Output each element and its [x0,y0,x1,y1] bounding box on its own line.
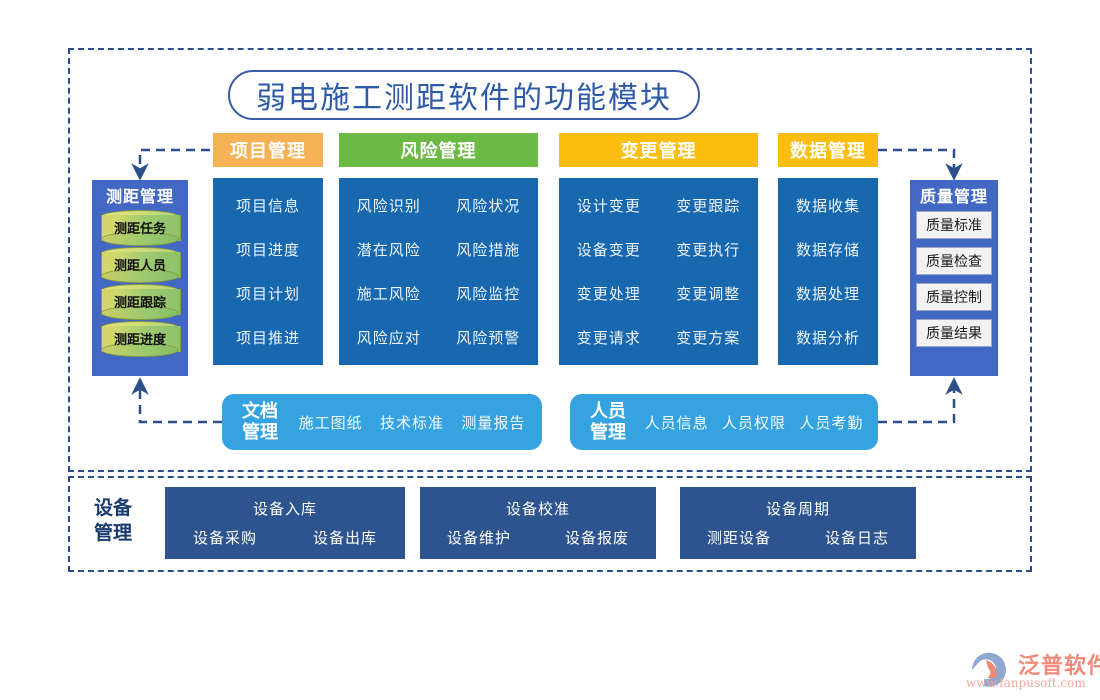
document-item[interactable]: 技术标准 [380,412,444,433]
personnel-item[interactable]: 人员权限 [722,412,786,433]
equipment-management-label: 设备 管理 [78,496,148,546]
personnel-management-title: 人员 管理 [586,401,630,443]
panel-cell[interactable]: 项目进度 [236,239,300,260]
category-header-data[interactable]: 数据管理 [778,133,878,167]
panel-row: 风险识别 风险状况 [339,184,538,228]
equipment-group-heading[interactable]: 设备校准 [420,498,656,519]
panel-cell[interactable]: 设备变更 [577,239,641,260]
category-header-project[interactable]: 项目管理 [213,133,323,167]
panel-cell[interactable]: 设计变更 [577,195,641,216]
personnel-items: 人员信息 人员权限 人员考勤 [630,412,878,433]
equipment-group-items: 设备采购 设备出库 [165,527,405,548]
panel-cell[interactable]: 风险识别 [357,195,421,216]
cylinder-item[interactable]: 测距进度 [101,321,179,355]
cylinder-item[interactable]: 测距跟踪 [101,284,179,318]
category-header-label: 风险管理 [401,137,477,163]
equipment-item[interactable]: 设备日志 [825,527,889,548]
panel-row: 项目信息 [213,184,323,228]
equipment-group-calibration: 设备校准 设备维护 设备报废 [420,487,656,559]
panel-cell[interactable]: 风险预警 [456,327,520,348]
panel-cell[interactable]: 施工风险 [357,283,421,304]
equipment-item[interactable]: 设备出库 [313,527,377,548]
panel-row: 变更处理 变更调整 [559,272,758,316]
panel-row: 数据存储 [778,228,878,272]
panel-cell[interactable]: 潜在风险 [357,239,421,260]
category-header-change[interactable]: 变更管理 [559,133,758,167]
panel-row: 设备变更 变更执行 [559,228,758,272]
panel-cell[interactable]: 数据收集 [796,195,860,216]
quality-chip[interactable]: 质量结果 [916,319,992,347]
diagram-title: 弱电施工测距软件的功能模块 [256,73,672,117]
document-items: 施工图纸 技术标准 测量报告 [282,412,542,433]
panel-cell[interactable]: 风险监控 [456,283,520,304]
panel-cell[interactable]: 项目信息 [236,195,300,216]
personnel-title-line2: 管理 [586,422,630,443]
equipment-item[interactable]: 设备维护 [447,527,511,548]
panel-cell[interactable]: 变更请求 [577,327,641,348]
quality-chip[interactable]: 质量标准 [916,211,992,239]
equipment-item[interactable]: 设备采购 [193,527,257,548]
doc-title-line2: 管理 [238,422,282,443]
category-header-label: 数据管理 [790,137,866,163]
panel-row: 项目推进 [213,315,323,359]
panel-row: 数据处理 [778,272,878,316]
category-panel-change: 设计变更 变更跟踪 设备变更 变更执行 变更处理 变更调整 变更请求 变更方案 [559,178,758,365]
equipment-item[interactable]: 设备报废 [565,527,629,548]
ranging-management-title: 测距管理 [106,183,174,207]
panel-cell[interactable]: 数据存储 [796,239,860,260]
document-management-bar: 文档 管理 施工图纸 技术标准 测量报告 [222,394,542,450]
equipment-label-line2: 管理 [78,521,148,546]
panel-cell[interactable]: 项目推进 [236,327,300,348]
logo-url-text: www.fanpusoft.com [966,676,1086,690]
category-panel-data: 数据收集 数据存储 数据处理 数据分析 [778,178,878,365]
category-header-risk[interactable]: 风险管理 [339,133,538,167]
cylinder-label: 测距人员 [101,254,179,274]
quality-management-box: 质量管理 质量标准 质量检查 质量控制 质量结果 [910,180,998,376]
panel-cell[interactable]: 变更调整 [676,283,740,304]
personnel-item[interactable]: 人员信息 [645,412,709,433]
panel-cell[interactable]: 数据处理 [796,283,860,304]
personnel-title-line1: 人员 [586,401,630,422]
cylinder-label: 测距任务 [101,217,179,237]
panel-row: 潜在风险 风险措施 [339,228,538,272]
panel-cell[interactable]: 风险状况 [456,195,520,216]
document-item[interactable]: 施工图纸 [299,412,363,433]
document-item[interactable]: 测量报告 [461,412,525,433]
quality-chip[interactable]: 质量检查 [916,247,992,275]
cylinder-item[interactable]: 测距人员 [101,247,179,281]
document-management-title: 文档 管理 [238,401,282,443]
panel-row: 项目进度 [213,228,323,272]
category-panel-project: 项目信息 项目进度 项目计划 项目推进 [213,178,323,365]
panel-row: 设计变更 变更跟踪 [559,184,758,228]
panel-row: 数据收集 [778,184,878,228]
equipment-item[interactable]: 测距设备 [707,527,771,548]
cylinder-label: 测距进度 [101,328,179,348]
diagram-title-box: 弱电施工测距软件的功能模块 [228,70,700,120]
category-header-label: 项目管理 [230,137,306,163]
panel-row: 风险应对 风险预警 [339,315,538,359]
equipment-group-heading[interactable]: 设备周期 [680,498,916,519]
panel-row: 变更请求 变更方案 [559,315,758,359]
panel-cell[interactable]: 变更方案 [676,327,740,348]
ranging-management-box: 测距管理 测距任务 测距人员 测距跟踪 测距进度 [92,180,188,376]
panel-cell[interactable]: 数据分析 [796,327,860,348]
panel-row: 施工风险 风险监控 [339,272,538,316]
panel-cell[interactable]: 变更跟踪 [676,195,740,216]
equipment-group-inbound: 设备入库 设备采购 设备出库 [165,487,405,559]
panel-cell[interactable]: 变更执行 [676,239,740,260]
category-panel-risk: 风险识别 风险状况 潜在风险 风险措施 施工风险 风险监控 风险应对 风险预警 [339,178,538,365]
diagram-canvas: 弱电施工测距软件的功能模块 项目管理 项目信息 项目进度 项目计划 项目推进 风… [0,0,1100,700]
panel-cell[interactable]: 项目计划 [236,283,300,304]
equipment-group-heading[interactable]: 设备入库 [165,498,405,519]
cylinder-label: 测距跟踪 [101,291,179,311]
equipment-label-line1: 设备 [78,496,148,521]
category-header-label: 变更管理 [621,137,697,163]
quality-chip[interactable]: 质量控制 [916,283,992,311]
panel-cell[interactable]: 风险应对 [357,327,421,348]
personnel-management-bar: 人员 管理 人员信息 人员权限 人员考勤 [570,394,878,450]
equipment-group-items: 设备维护 设备报废 [420,527,656,548]
equipment-group-items: 测距设备 设备日志 [680,527,916,548]
quality-management-title: 质量管理 [920,183,988,207]
doc-title-line1: 文档 [238,401,282,422]
panel-row: 数据分析 [778,315,878,359]
cylinder-item[interactable]: 测距任务 [101,210,179,244]
panel-cell[interactable]: 变更处理 [577,283,641,304]
equipment-group-cycle: 设备周期 测距设备 设备日志 [680,487,916,559]
panel-row: 项目计划 [213,272,323,316]
panel-cell[interactable]: 风险措施 [456,239,520,260]
personnel-item[interactable]: 人员考勤 [799,412,863,433]
